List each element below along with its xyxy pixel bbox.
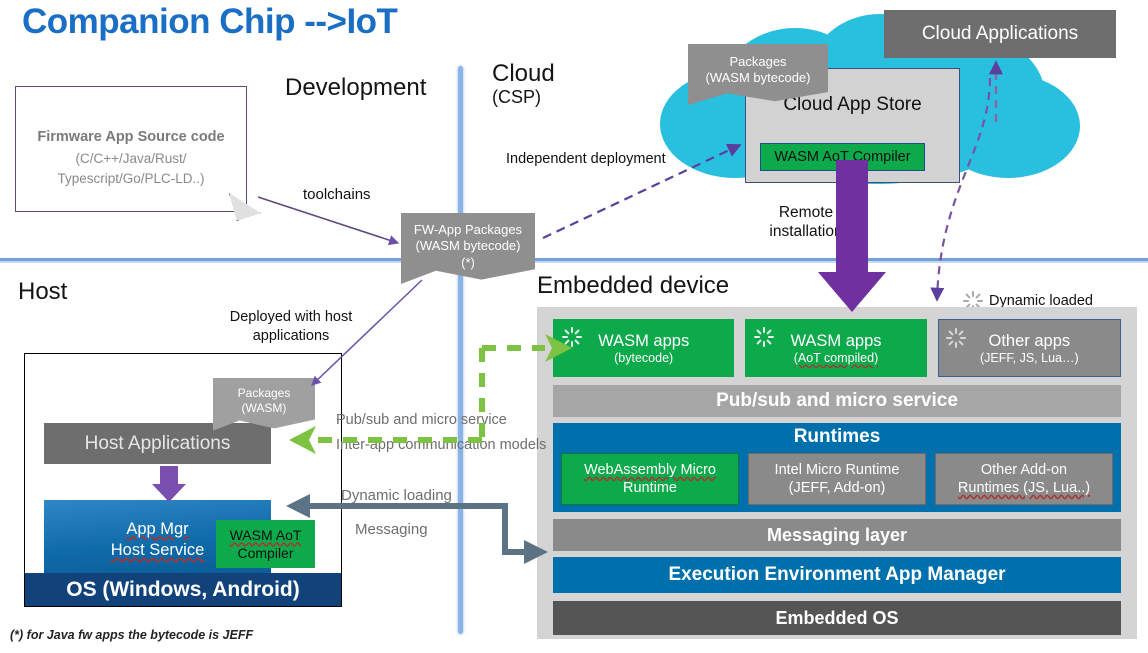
app-title: WASM apps	[790, 332, 881, 351]
embedded-app-other[interactable]: Other apps (JEFF, JS, Lua…)	[938, 319, 1121, 377]
section-label-embedded-device: Embedded device	[537, 272, 729, 300]
runtime-other-addon[interactable]: Other Add-on Runtimes (JS, Lua..)	[935, 453, 1113, 505]
label-independent-deployment: Independent deployment	[506, 151, 666, 167]
host-aot-line1: WASM AoT	[230, 526, 302, 544]
section-label-development: Development	[285, 74, 426, 102]
host-os-box[interactable]: OS (Windows, Android)	[25, 573, 341, 606]
host-packages-line2: (WASM)	[213, 401, 315, 416]
messaging-layer-label: Messaging layer	[767, 525, 907, 546]
host-packages-line1: Packages	[213, 386, 315, 401]
host-wasm-aot-compiler-box[interactable]: WASM AoT Compiler	[216, 520, 315, 568]
source-box-languages: (C/C++/Java/Rust/ Typescript/Go/PLC-LD..…	[57, 149, 204, 188]
runtime-line1: WebAssembly Micro	[584, 461, 716, 479]
footnote: (*) for Java fw apps the bytecode is JEF…	[10, 628, 253, 642]
cloud-applications-label: Cloud Applications	[922, 23, 1078, 45]
embedded-os[interactable]: Embedded OS	[553, 601, 1121, 635]
pubsub-label: Pub/sub and micro service	[716, 390, 958, 412]
runtime-line2: (JEFF, Add-on)	[789, 479, 886, 497]
fw-packages-line3: (*)	[401, 255, 535, 271]
label-remote-installation: Remote installation	[760, 203, 852, 242]
cloud-applications-box[interactable]: Cloud Applications	[884, 10, 1116, 58]
fw-app-packages-callout: FW-App Packages (WASM bytecode) (*)	[401, 213, 535, 287]
app-title: WASM apps	[598, 332, 689, 351]
app-mgr-line2: Host Service	[111, 540, 205, 561]
label-pubsub-line2: Inter-app communication models	[336, 437, 546, 453]
runtime-line1: Intel Micro Runtime	[775, 461, 900, 479]
host-applications-box[interactable]: Host Applications	[44, 423, 271, 464]
horizontal-divider	[0, 258, 1148, 261]
runtime-line1: Other Add-on	[981, 461, 1067, 479]
cloud-label-sub: (CSP)	[492, 88, 555, 107]
label-deployed-with-host-apps: Deployed with host applications	[206, 308, 376, 346]
embedded-device-panel: WASM apps (bytecode) WASM apps (AoT comp…	[537, 307, 1137, 639]
fw-packages-line1: FW-App Packages	[401, 222, 535, 238]
embedded-app-wasm-aot[interactable]: WASM apps (AoT compiled)	[745, 319, 926, 377]
remote-installation-line1: Remote	[779, 203, 833, 222]
embedded-app-manager[interactable]: Execution Environment App Manager	[553, 557, 1121, 593]
app-mgr-line1: App Mgr	[126, 519, 188, 540]
embedded-runtimes-block: Runtimes WebAssembly Micro Runtime Intel…	[553, 423, 1121, 512]
label-pubsub-line1: Pub/sub and micro service	[336, 412, 507, 428]
cloud-label-main: Cloud	[492, 60, 555, 87]
deployed-line1: Deployed with host	[230, 308, 353, 327]
app-title: Other apps	[989, 332, 1071, 351]
cloud-packages-line2: (WASM bytecode)	[688, 70, 828, 86]
runtime-line2: Runtimes (JS, Lua..)	[958, 479, 1090, 497]
cloud-aot-compiler-label: WASM AoT Compiler	[774, 149, 910, 165]
section-label-host: Host	[18, 278, 67, 306]
runtimes-title: Runtimes	[553, 423, 1121, 451]
cloud-packages-line1: Packages	[688, 54, 828, 70]
firmware-source-code-box: Firmware App Source code (C/C++/Java/Rus…	[15, 86, 247, 212]
embedded-app-wasm-bytecode[interactable]: WASM apps (bytecode)	[553, 319, 734, 377]
label-toolchains: toolchains	[303, 186, 371, 203]
spinner-icon	[561, 326, 583, 348]
runtime-wasm-micro[interactable]: WebAssembly Micro Runtime	[561, 453, 739, 505]
runtime-line2: Runtime	[623, 479, 677, 497]
spinner-icon	[945, 327, 967, 349]
vertical-divider	[458, 66, 463, 634]
source-lang-line2: Typescript/Go/PLC-LD..)	[57, 171, 204, 186]
label-messaging: Messaging	[355, 521, 428, 538]
embedded-os-label: Embedded OS	[775, 608, 898, 629]
section-label-cloud: Cloud (CSP)	[492, 60, 555, 107]
source-lang-line1: (C/C++/Java/Rust/	[75, 151, 186, 166]
arrow-toolchains	[258, 197, 398, 243]
host-aot-line2: Compiler	[237, 544, 293, 562]
fw-packages-line2: (WASM bytecode)	[401, 238, 535, 254]
app-subtitle: (bytecode)	[614, 351, 673, 365]
remote-installation-line2: installation	[769, 222, 842, 241]
app-subtitle: (JEFF, JS, Lua…)	[980, 351, 1079, 365]
page-title: Companion Chip -->IoT	[22, 2, 397, 42]
source-box-heading: Firmware App Source code	[37, 129, 224, 145]
app-manager-label: Execution Environment App Manager	[668, 564, 1005, 586]
cloud-wasm-aot-compiler-box[interactable]: WASM AoT Compiler	[760, 143, 925, 171]
embedded-pubsub-layer[interactable]: Pub/sub and micro service	[553, 385, 1121, 417]
runtime-intel-micro[interactable]: Intel Micro Runtime (JEFF, Add-on)	[748, 453, 926, 505]
embedded-messaging-layer[interactable]: Messaging layer	[553, 519, 1121, 551]
deployed-line2: applications	[253, 327, 330, 346]
embedded-app-row: WASM apps (bytecode) WASM apps (AoT comp…	[553, 319, 1121, 377]
spinner-icon	[753, 326, 775, 348]
label-dynamic-loading: Dynamic loading	[341, 487, 452, 504]
host-os-label: OS (Windows, Android)	[66, 578, 300, 602]
app-subtitle: (AoT compiled)	[794, 351, 879, 365]
host-applications-label: Host Applications	[85, 433, 231, 455]
